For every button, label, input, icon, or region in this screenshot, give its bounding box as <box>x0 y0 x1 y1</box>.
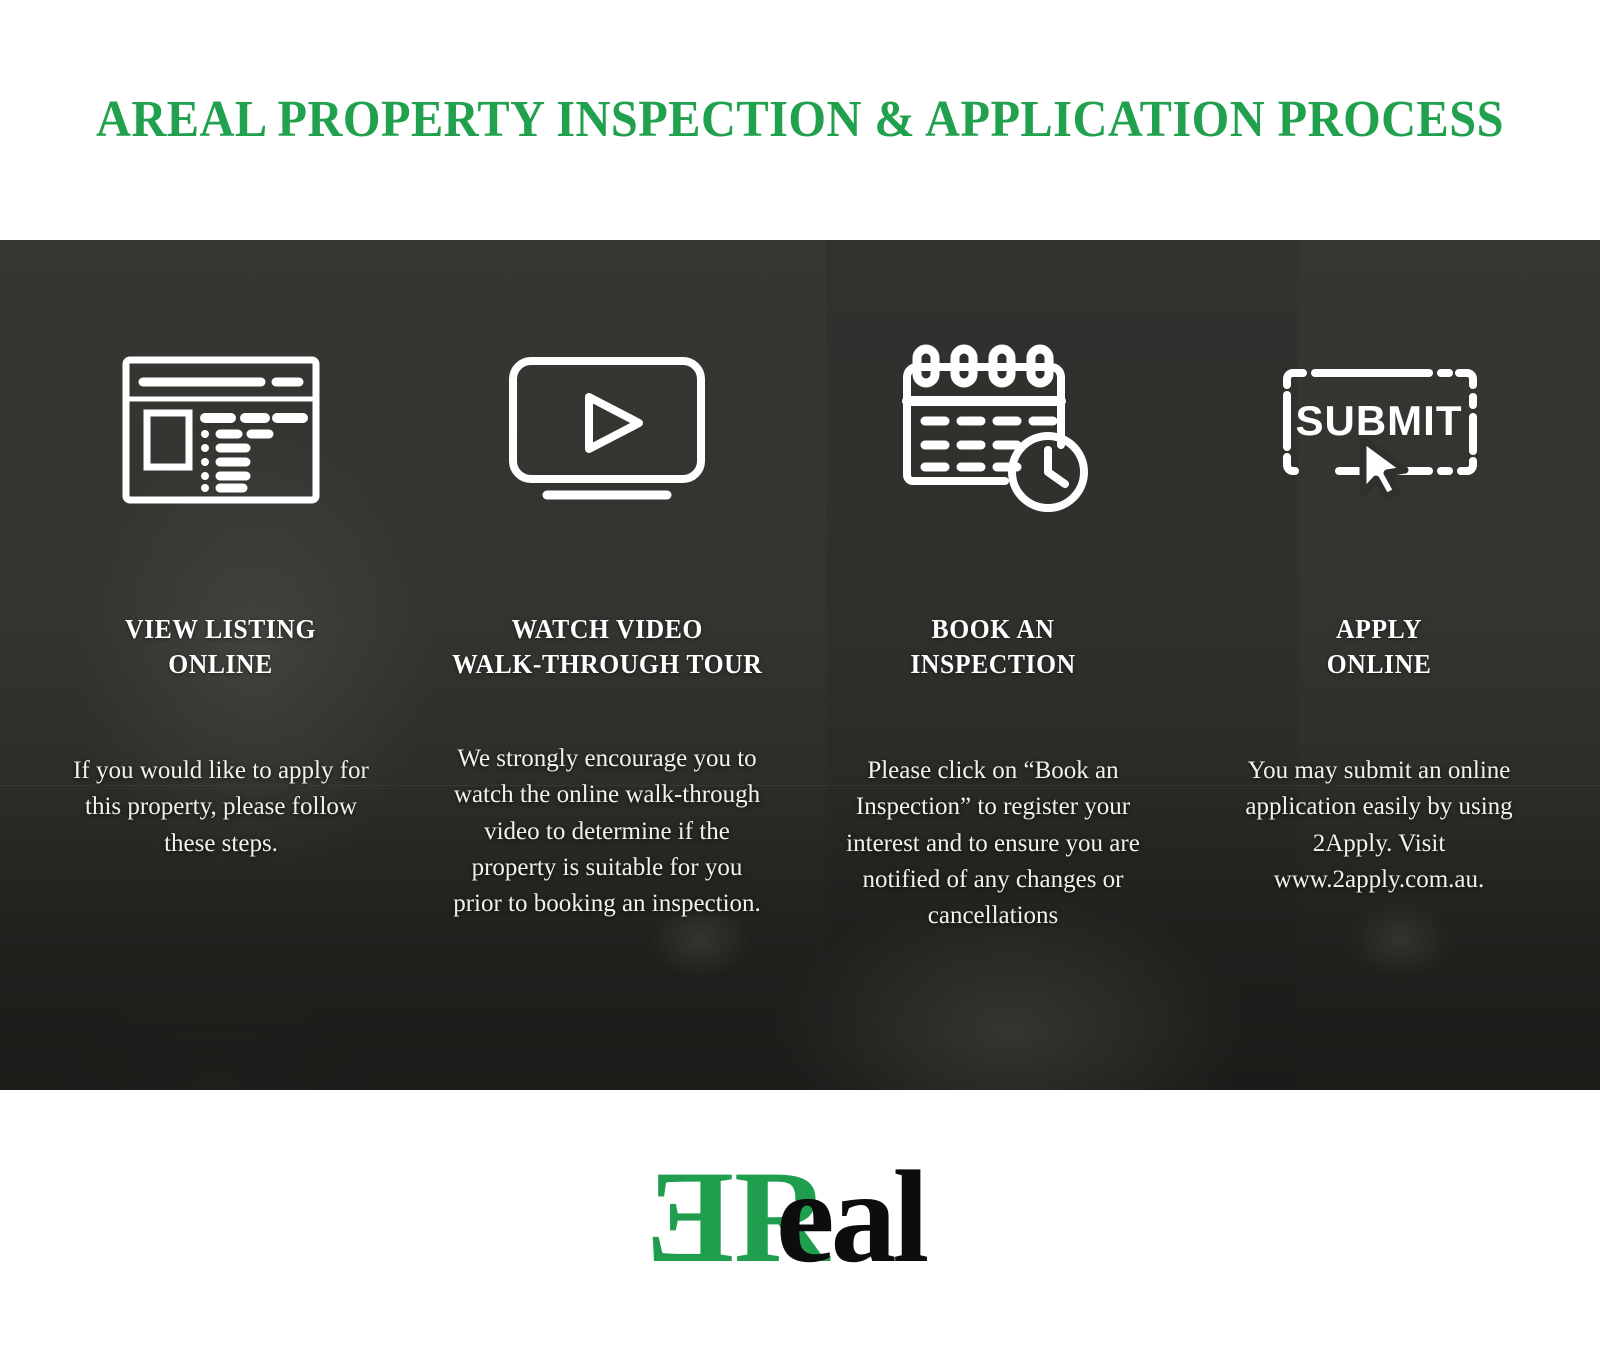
listing-window-icon <box>121 340 321 520</box>
step-apply-online: SUBMIT APPLY ONLINE You may submit an on… <box>1186 240 1572 1090</box>
step-title: APPLY ONLINE <box>1327 612 1432 681</box>
step-description: Please click on “Book an Inspection” to … <box>836 753 1151 934</box>
step-description: You may submit an online application eas… <box>1219 753 1539 898</box>
page-title: AREAL PROPERTY INSPECTION & APPLICATION … <box>96 94 1504 146</box>
video-player-icon <box>507 340 707 520</box>
step-title: WATCH VIDEO WALK-THROUGH TOUR <box>452 612 762 681</box>
step-title: VIEW LISTING ONLINE <box>126 612 317 681</box>
logo-black-text: eal <box>776 1153 928 1283</box>
step-book-inspection: BOOK AN INSPECTION Please click on “Book… <box>800 240 1186 1090</box>
step-watch-video: WATCH VIDEO WALK-THROUGH TOUR We strongl… <box>414 240 800 1090</box>
step-view-listing-online: VIEW LISTING ONLINE If you would like to… <box>28 240 414 1090</box>
step-description: We strongly encourage you to watch the o… <box>452 741 762 922</box>
infographic-page: AREAL PROPERTY INSPECTION & APPLICATION … <box>0 0 1600 1345</box>
hero-photo-band: VIEW LISTING ONLINE If you would like to… <box>0 240 1600 1090</box>
submit-label: SUBMIT <box>1296 397 1463 444</box>
submit-button-cursor-icon: SUBMIT <box>1279 340 1479 520</box>
areal-logo: ƎR eal <box>640 1153 960 1283</box>
step-title: BOOK AN INSPECTION <box>910 612 1075 681</box>
step-description: If you would like to apply for this prop… <box>61 753 381 862</box>
header-band: AREAL PROPERTY INSPECTION & APPLICATION … <box>0 0 1600 240</box>
footer-band: ƎR eal <box>0 1090 1600 1345</box>
calendar-clock-icon <box>893 340 1093 520</box>
process-steps: VIEW LISTING ONLINE If you would like to… <box>0 240 1600 1090</box>
